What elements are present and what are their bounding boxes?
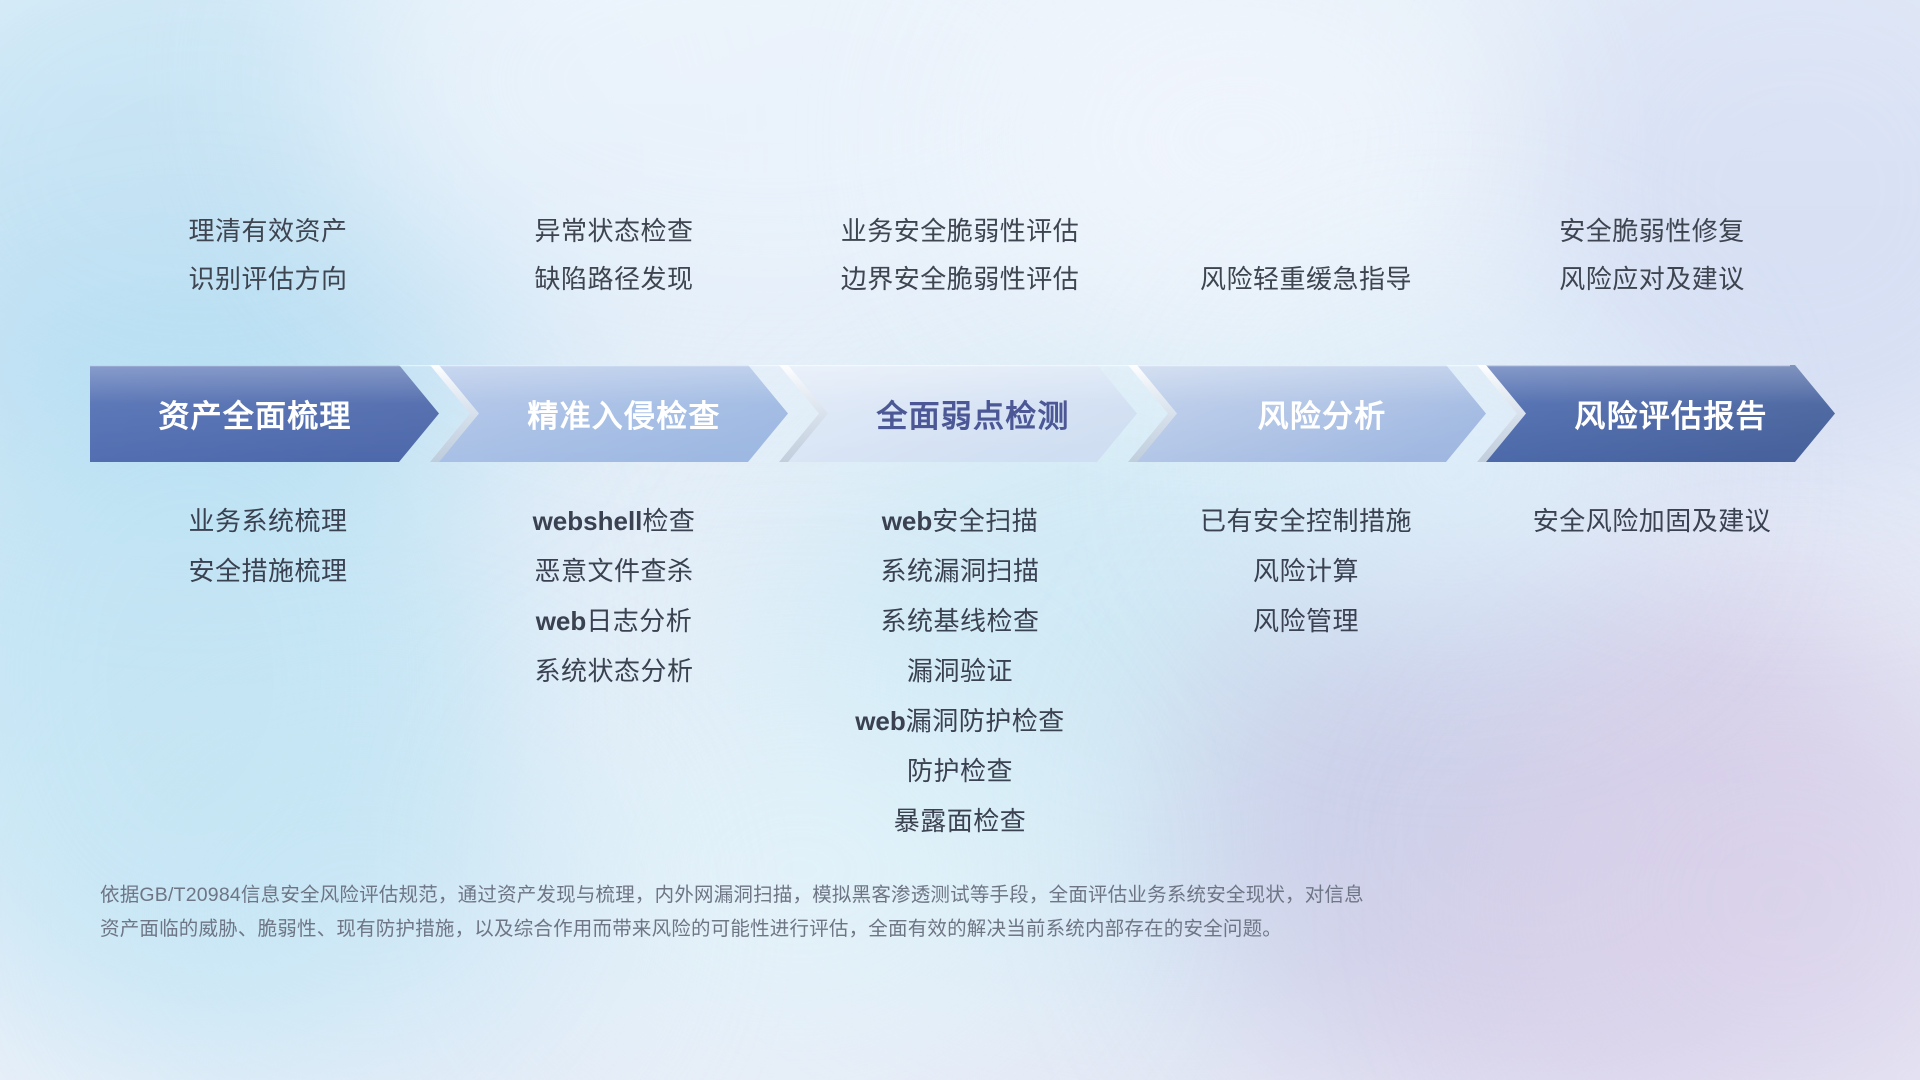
activity-item: webshell检查 — [533, 508, 696, 534]
activity-item: 漏洞验证 — [907, 658, 1013, 684]
stage-activities-weakness-detection: web安全扫描系统漏洞扫描系统基线检查漏洞验证web漏洞防护检查防护检查暴露面检… — [787, 508, 1133, 834]
activity-item: 风险管理 — [1253, 608, 1359, 634]
input-item: 缺陷路径发现 — [534, 266, 693, 292]
description-footer: 依据GB/T20984信息安全风险评估规范，通过资产发现与梳理，内外网漏洞扫描，… — [100, 880, 1660, 945]
activity-item-latin: web — [536, 606, 587, 636]
activity-item: 系统状态分析 — [534, 658, 693, 684]
stage-inputs-risk-analysis: 风险轻重缓急指导 — [1133, 218, 1479, 314]
activity-item: 系统漏洞扫描 — [880, 558, 1039, 584]
activity-item-cjk: 安全扫描 — [932, 506, 1038, 536]
footer-line-1: 依据GB/T20984信息安全风险评估规范，通过资产发现与梳理，内外网漏洞扫描，… — [100, 880, 1660, 912]
activity-item: web日志分析 — [536, 608, 693, 634]
activity-item-latin: webshell — [533, 506, 643, 536]
stage-inputs-risk-report: 安全脆弱性修复风险应对及建议 — [1479, 218, 1825, 314]
activity-item: 防护检查 — [907, 758, 1013, 784]
activity-item: 安全措施梳理 — [188, 558, 347, 584]
activity-item: 安全风险加固及建议 — [1533, 508, 1772, 534]
stage-inputs-row: 理清有效资产识别评估方向异常状态检查缺陷路径发现业务安全脆弱性评估边界安全脆弱性… — [95, 218, 1825, 314]
activity-item: 已有安全控制措施 — [1200, 508, 1412, 534]
input-item: 理清有效资产 — [188, 218, 347, 244]
input-item: 业务安全脆弱性评估 — [841, 218, 1080, 244]
input-item: 安全脆弱性修复 — [1559, 218, 1745, 244]
activity-item: 恶意文件查杀 — [534, 558, 693, 584]
stage-inputs-intrusion-check: 异常状态检查缺陷路径发现 — [441, 218, 787, 314]
activity-item: 风险计算 — [1253, 558, 1359, 584]
diagram-content: 理清有效资产识别评估方向异常状态检查缺陷路径发现业务安全脆弱性评估边界安全脆弱性… — [0, 0, 1920, 1080]
activity-item: 业务系统梳理 — [188, 508, 347, 534]
input-item: 风险轻重缓急指导 — [1200, 266, 1412, 292]
activity-item-latin: web — [882, 506, 933, 536]
activity-item-cjk: 漏洞防护检查 — [906, 706, 1065, 736]
activity-item: web安全扫描 — [882, 508, 1039, 534]
stage-activities-risk-report: 安全风险加固及建议 — [1479, 508, 1825, 834]
stage-activities-intrusion-check: webshell检查恶意文件查杀web日志分析系统状态分析 — [441, 508, 787, 834]
arrow-band-svg — [90, 365, 1835, 462]
input-item: 风险应对及建议 — [1559, 266, 1745, 292]
input-item: 边界安全脆弱性评估 — [841, 266, 1080, 292]
input-item: 异常状态检查 — [534, 218, 693, 244]
input-item: 识别评估方向 — [188, 266, 347, 292]
stage-activities-risk-analysis: 已有安全控制措施风险计算风险管理 — [1133, 508, 1479, 834]
activity-item-cjk: 日志分析 — [586, 606, 692, 636]
footer-line-2: 资产面临的威胁、脆弱性、现有防护措施，以及综合作用而带来风险的可能性进行评估，全… — [100, 914, 1660, 946]
activity-item: 暴露面检查 — [894, 808, 1027, 834]
stage-activities-asset-inventory: 业务系统梳理安全措施梳理 — [95, 508, 441, 834]
activity-item: web漏洞防护检查 — [855, 708, 1065, 734]
stage-activities-row: 业务系统梳理安全措施梳理webshell检查恶意文件查杀web日志分析系统状态分… — [95, 508, 1825, 834]
stage-inputs-asset-inventory: 理清有效资产识别评估方向 — [95, 218, 441, 314]
stage-inputs-weakness-detection: 业务安全脆弱性评估边界安全脆弱性评估 — [787, 218, 1133, 314]
activity-item-latin: web — [855, 706, 906, 736]
activity-item: 系统基线检查 — [880, 608, 1039, 634]
activity-item-cjk: 检查 — [642, 506, 695, 536]
process-arrow-band: 资产全面梳理 精准入侵检查 全面弱点检测 风险分析 风险评估报告 — [90, 365, 1835, 462]
